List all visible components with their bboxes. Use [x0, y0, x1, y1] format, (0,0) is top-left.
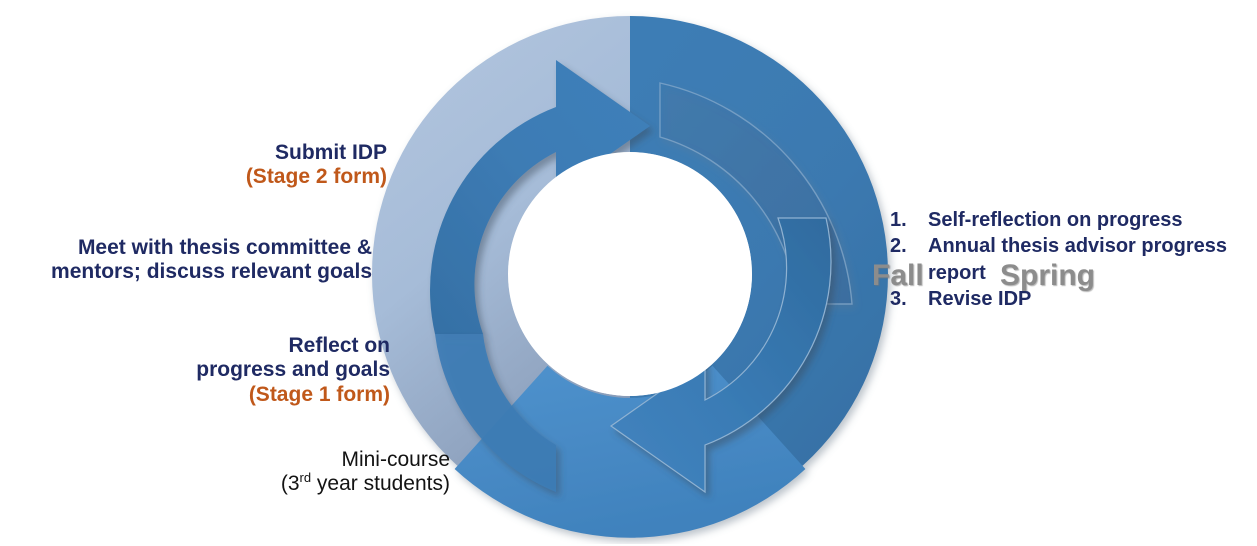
spring-task-number: 1. — [890, 207, 928, 233]
callout-meet-committee-line2: mentors; discuss relevant goals — [51, 260, 372, 284]
spring-task-item: 3. Revise IDP — [890, 286, 1240, 312]
cycle-center-hole — [508, 152, 752, 396]
callout-mini-course: Mini-course (3rd year students) — [281, 448, 450, 497]
spring-task-text: Self-reflection on progress — [928, 207, 1240, 233]
spring-task-item: 1. Self-reflection on progress — [890, 207, 1240, 233]
callout-mini-course-ordinal: rd — [300, 470, 312, 485]
callout-mini-course-post: year students) — [311, 472, 450, 495]
callout-submit-idp-form: (Stage 2 form) — [246, 165, 387, 189]
callout-reflect-form: (Stage 1 form) — [196, 383, 390, 407]
callout-submit-idp-line1: Submit IDP — [246, 141, 387, 165]
callout-reflect-progress: Reflect on progress and goals (Stage 1 f… — [196, 334, 390, 407]
callout-submit-idp: Submit IDP (Stage 2 form) — [246, 141, 387, 190]
callout-mini-course-pre: (3 — [281, 472, 300, 495]
spring-task-number: 2. — [890, 233, 928, 259]
diagram-canvas: Fall Spring Submit IDP (Stage 2 form) Me… — [0, 0, 1257, 546]
spring-task-text: Revise IDP — [928, 286, 1240, 312]
callout-reflect-line1: Reflect on — [196, 334, 390, 358]
spring-task-text: Annual thesis advisor progress report — [928, 233, 1240, 286]
callout-mini-course-line1: Mini-course — [281, 448, 450, 472]
callout-reflect-line2: progress and goals — [196, 358, 390, 382]
callout-mini-course-line2: (3rd year students) — [281, 472, 450, 496]
spring-task-list: 1. Self-reflection on progress 2. Annual… — [890, 207, 1240, 313]
callout-meet-committee-line1: Meet with thesis committee & — [51, 236, 372, 260]
spring-task-number: 3. — [890, 286, 928, 312]
callout-meet-committee: Meet with thesis committee & mentors; di… — [51, 236, 372, 285]
spring-task-item: 2. Annual thesis advisor progress report — [890, 233, 1240, 286]
